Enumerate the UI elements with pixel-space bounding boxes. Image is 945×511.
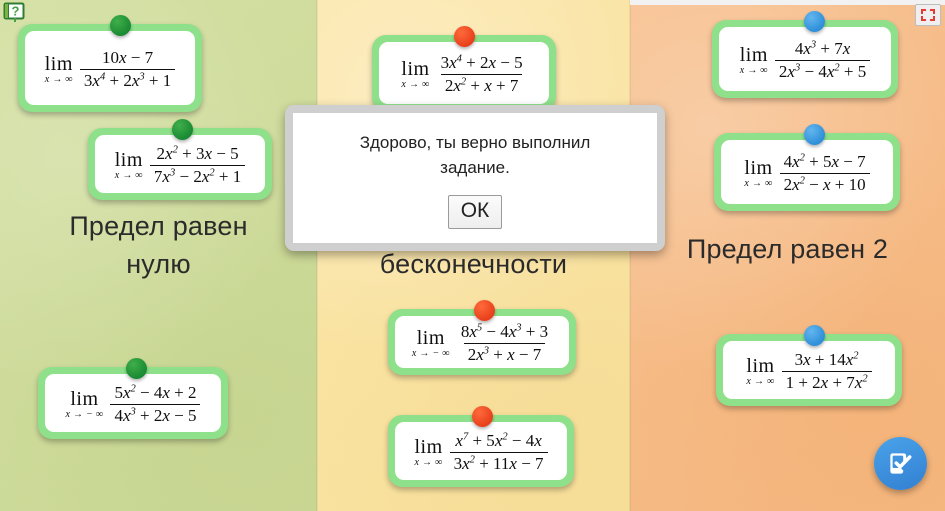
limit-operator: lim x → ∞	[45, 54, 73, 85]
card-handle-dot[interactable]	[110, 15, 131, 36]
lim-subscript: x → ∞	[746, 377, 774, 387]
math-expression: lim x → ∞ 10x − 7 3x4 + 2x3 + 1	[45, 48, 175, 89]
card-handle-dot[interactable]	[474, 300, 495, 321]
formula-card[interactable]: lim x → − ∞ 8x5 − 4x3 + 3 2x3 + x − 7	[388, 309, 576, 375]
fraction: 5x2 − 4x + 2 4x3 + 2x − 5	[110, 383, 200, 424]
svg-text:?: ?	[12, 4, 20, 19]
fraction: 4x2 + 5x − 7 2x2 − x + 10	[780, 152, 870, 193]
lim-symbol: lim	[414, 437, 442, 457]
lim-symbol: lim	[740, 45, 768, 65]
limit-operator: lim x → − ∞	[66, 389, 104, 420]
math-expression: lim x → − ∞ 5x2 − 4x + 2 4x3 + 2x − 5	[66, 383, 201, 424]
limit-operator: lim x → ∞	[744, 158, 772, 189]
fraction: 3x + 14x2 1 + 2x + 7x2	[782, 350, 872, 391]
formula-card[interactable]: lim x → ∞ 4x2 + 5x − 7 2x2 − x + 10	[714, 133, 900, 211]
card-handle-dot[interactable]	[454, 26, 475, 47]
formula-card-face: lim x → ∞ 3x4 + 2x − 5 2x2 + x + 7	[379, 42, 549, 104]
lim-subscript: x → − ∞	[412, 349, 450, 359]
math-expression: lim x → ∞ 4x2 + 5x − 7 2x2 − x + 10	[744, 152, 869, 193]
formula-card[interactable]: lim x → − ∞ 5x2 − 4x + 2 4x3 + 2x − 5	[38, 367, 228, 439]
fullscreen-expand-icon-svg	[920, 8, 936, 22]
numerator: 8x5 − 4x3 + 3	[457, 322, 552, 342]
lim-symbol: lim	[115, 150, 143, 170]
fullscreen-expand-icon[interactable]	[915, 4, 941, 26]
limit-operator: lim x → ∞	[401, 59, 429, 90]
lim-subscript: x → ∞	[401, 80, 429, 90]
feedback-dialog: Здорово, ты верно выполнил задание. ОК	[285, 105, 665, 251]
help-question-icon[interactable]: ?	[3, 2, 27, 24]
denominator: 7x3 − 2x2 + 1	[150, 165, 245, 186]
submit-check-button[interactable]	[874, 437, 927, 490]
denominator: 2x2 − x + 10	[780, 173, 870, 194]
denominator: 3x2 + 11x − 7	[450, 452, 548, 473]
card-handle-dot[interactable]	[804, 11, 825, 32]
card-handle-dot[interactable]	[472, 406, 493, 427]
lim-symbol: lim	[70, 389, 98, 409]
lim-symbol: lim	[417, 328, 445, 348]
denominator: 2x3 + x − 7	[464, 343, 546, 364]
feedback-message: Здорово, ты верно выполнил задание.	[340, 130, 610, 180]
formula-card-face: lim x → ∞ 3x + 14x2 1 + 2x + 7x2	[723, 341, 895, 399]
denominator: 4x3 + 2x − 5	[110, 404, 200, 425]
math-expression: lim x → ∞ 3x4 + 2x − 5 2x2 + x + 7	[401, 53, 526, 94]
help-question-icon-svg: ?	[3, 2, 27, 24]
column-heading-limit-zero: Предел равен нулю	[10, 207, 307, 283]
lim-subscript: x → ∞	[115, 171, 143, 181]
limit-operator: lim x → ∞	[115, 150, 143, 181]
math-expression: lim x → − ∞ 8x5 − 4x3 + 3 2x3 + x − 7	[412, 322, 552, 363]
formula-card-face: lim x → ∞ 10x − 7 3x4 + 2x3 + 1	[25, 31, 195, 105]
formula-card-face: lim x → − ∞ 5x2 − 4x + 2 4x3 + 2x − 5	[45, 374, 221, 432]
fraction: 2x2 + 3x − 5 7x3 − 2x2 + 1	[150, 144, 245, 185]
denominator: 3x4 + 2x3 + 1	[80, 69, 175, 90]
formula-card-face: lim x → − ∞ 8x5 − 4x3 + 3 2x3 + x − 7	[395, 316, 569, 368]
math-expression: lim x → ∞ 4x3 + 7x 2x3 − 4x2 + 5	[740, 39, 870, 80]
check-square-icon	[887, 450, 914, 477]
lim-subscript: x → ∞	[744, 179, 772, 189]
lim-symbol: lim	[746, 356, 774, 376]
lim-symbol: lim	[401, 59, 429, 79]
formula-card[interactable]: lim x → ∞ 3x + 14x2 1 + 2x + 7x2	[716, 334, 902, 406]
lim-subscript: x → ∞	[740, 66, 768, 76]
fraction: 10x − 7 3x4 + 2x3 + 1	[80, 48, 175, 89]
formula-card[interactable]: lim x → ∞ x7 + 5x2 − 4x 3x2 + 11x − 7	[388, 415, 574, 487]
card-handle-dot[interactable]	[804, 124, 825, 145]
lim-subscript: x → ∞	[45, 75, 73, 85]
numerator: 3x4 + 2x − 5	[437, 53, 527, 73]
formula-card[interactable]: lim x → ∞ 3x4 + 2x − 5 2x2 + x + 7	[372, 35, 556, 111]
limit-operator: lim x → ∞	[740, 45, 768, 76]
column-heading-limit-two: Предел равен 2	[638, 230, 937, 268]
formula-card-face: lim x → ∞ x7 + 5x2 − 4x 3x2 + 11x − 7	[395, 422, 567, 480]
lim-symbol: lim	[744, 158, 772, 178]
math-expression: lim x → ∞ 2x2 + 3x − 5 7x3 − 2x2 + 1	[115, 144, 245, 185]
fraction: 8x5 − 4x3 + 3 2x3 + x − 7	[457, 322, 552, 363]
exercise-stage: Предел равен нулю Предел равен бесконечн…	[0, 0, 945, 511]
lim-subscript: x → ∞	[414, 458, 442, 468]
fraction: 4x3 + 7x 2x3 − 4x2 + 5	[775, 39, 870, 80]
lim-subscript: x → − ∞	[66, 410, 104, 420]
formula-card[interactable]: lim x → ∞ 2x2 + 3x − 5 7x3 − 2x2 + 1	[88, 128, 272, 200]
numerator: 2x2 + 3x − 5	[153, 144, 243, 164]
formula-card-face: lim x → ∞ 2x2 + 3x − 5 7x3 − 2x2 + 1	[95, 135, 265, 193]
numerator: 10x − 7	[98, 48, 157, 68]
numerator: 4x2 + 5x − 7	[780, 152, 870, 172]
numerator: x7 + 5x2 − 4x	[451, 431, 545, 451]
fraction: 3x4 + 2x − 5 2x2 + x + 7	[437, 53, 527, 94]
numerator: 4x3 + 7x	[791, 39, 854, 59]
formula-card[interactable]: lim x → ∞ 4x3 + 7x 2x3 − 4x2 + 5	[712, 20, 898, 98]
column-divider-left	[316, 0, 318, 511]
denominator: 2x3 − 4x2 + 5	[775, 60, 870, 81]
card-handle-dot[interactable]	[172, 119, 193, 140]
card-handle-dot[interactable]	[804, 325, 825, 346]
math-expression: lim x → ∞ x7 + 5x2 − 4x 3x2 + 11x − 7	[414, 431, 547, 472]
formula-card-face: lim x → ∞ 4x3 + 7x 2x3 − 4x2 + 5	[719, 27, 891, 91]
feedback-dialog-body: Здорово, ты верно выполнил задание. ОК	[293, 113, 657, 243]
formula-card-face: lim x → ∞ 4x2 + 5x − 7 2x2 − x + 10	[721, 140, 893, 204]
numerator: 3x + 14x2	[791, 350, 863, 370]
numerator: 5x2 − 4x + 2	[110, 383, 200, 403]
limit-operator: lim x → ∞	[746, 356, 774, 387]
fraction: x7 + 5x2 − 4x 3x2 + 11x − 7	[450, 431, 548, 472]
top-strip	[630, 0, 945, 5]
card-handle-dot[interactable]	[126, 358, 147, 379]
limit-operator: lim x → − ∞	[412, 328, 450, 359]
formula-card[interactable]: lim x → ∞ 10x − 7 3x4 + 2x3 + 1	[18, 24, 202, 112]
column-divider-right	[629, 0, 631, 511]
denominator: 2x2 + x + 7	[441, 74, 523, 95]
denominator: 1 + 2x + 7x2	[782, 371, 872, 392]
dialog-ok-button[interactable]: ОК	[448, 195, 503, 229]
limit-operator: lim x → ∞	[414, 437, 442, 468]
lim-symbol: lim	[45, 54, 73, 74]
math-expression: lim x → ∞ 3x + 14x2 1 + 2x + 7x2	[746, 350, 871, 391]
